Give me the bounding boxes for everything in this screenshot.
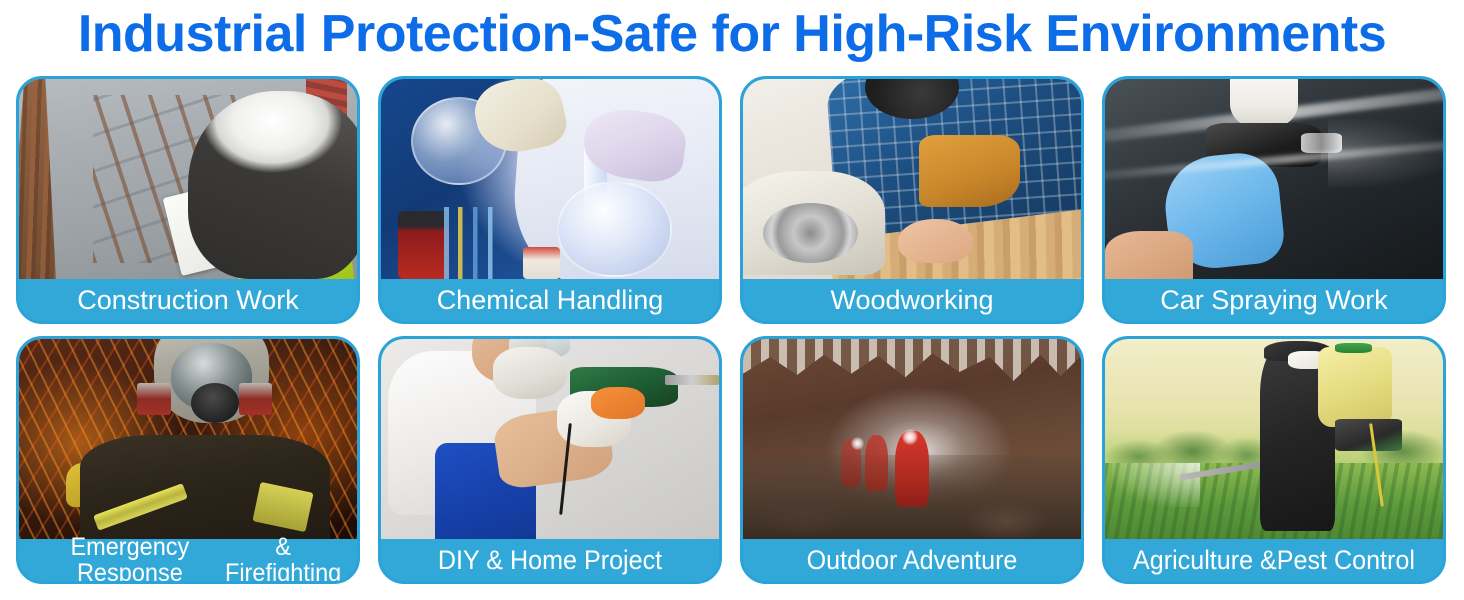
card-photo-construction-work [19, 79, 357, 279]
pesticide-spray-decor [1112, 463, 1200, 507]
card-caption-chemical-handling: Chemical Handling [381, 279, 719, 321]
page-title: Industrial Protection-Safe for High-Risk… [0, 2, 1464, 68]
diy-home-project-image [381, 339, 719, 539]
use-case-card-agriculture-pest-control[interactable]: Agriculture &Pest Control [1102, 336, 1446, 584]
spray-nozzle-decor [1301, 133, 1342, 153]
crane-decor [306, 79, 347, 191]
card-photo-outdoor-adventure [743, 339, 1081, 539]
hand-decor [898, 219, 972, 263]
use-case-card-chemical-handling[interactable]: Chemical Handling [378, 76, 722, 324]
caver-2-decor [865, 435, 889, 491]
respirator-filter-decor [191, 383, 238, 423]
card-photo-woodworking [743, 79, 1081, 279]
tank-cap-decor [1335, 343, 1372, 353]
caption-line-2: & Firefighting [225, 534, 341, 584]
crop-spraying-image [1105, 339, 1443, 539]
card-caption-construction-work: Construction Work [19, 279, 357, 321]
card-caption-woodworking: Woodworking [743, 279, 1081, 321]
card-photo-agriculture-pest-control [1105, 339, 1443, 539]
half-mask-respirator-decor [493, 347, 567, 399]
boiling-flask-decor [557, 181, 673, 277]
paint-cup-decor [1230, 79, 1298, 127]
card-caption-emergency-response: Emergency Response& Firefighting [29, 539, 347, 581]
filter-cartridge-right-decor [239, 383, 273, 415]
card-photo-emergency-response [19, 339, 357, 539]
card-caption-outdoor-adventure: Outdoor Adventure [755, 539, 1069, 581]
woodworking-image [743, 79, 1081, 279]
card-caption-agriculture-pest-control: Agriculture &Pest Control [1117, 539, 1431, 581]
firefighting-image [19, 339, 357, 539]
use-case-card-construction-work[interactable]: Construction Work [16, 76, 360, 324]
filter-cartridge-left-decor [137, 383, 171, 415]
card-caption-car-spraying-work: Car Spraying Work [1105, 279, 1443, 321]
drill-bit-decor [665, 375, 719, 385]
headlamp-2-decor [851, 437, 864, 450]
backpack-sprayer-tank-decor [1318, 347, 1392, 427]
use-case-grid: Construction Work Chemical Handling [16, 76, 1448, 596]
card-photo-chemical-handling [381, 79, 719, 279]
use-case-card-car-spraying-work[interactable]: Car Spraying Work [1102, 76, 1446, 324]
promo-banner: Industrial Protection-Safe for High-Risk… [0, 0, 1464, 600]
use-case-card-woodworking[interactable]: Woodworking [740, 76, 1084, 324]
sample-jar-decor [523, 247, 560, 279]
card-photo-car-spraying-work [1105, 79, 1443, 279]
saw-blade-decor [763, 203, 858, 263]
headlamp-1-decor [902, 429, 918, 445]
hi-vis-vest-decor [231, 193, 354, 279]
ear-defender-decor [865, 79, 960, 119]
car-spraying-image [1105, 79, 1443, 279]
wrist-decor [1105, 231, 1193, 279]
caption-line-1: Emergency Response [35, 534, 225, 584]
card-caption-diy-home-project: DIY & Home Project [393, 539, 707, 581]
tool-belt-decor [919, 135, 1020, 207]
cave-exploration-image [743, 339, 1081, 539]
construction-site-image [19, 79, 357, 279]
chemical-lab-image [381, 79, 719, 279]
paint-mist-decor [1328, 119, 1443, 187]
use-case-card-emergency-response[interactable]: Emergency Response& Firefighting [16, 336, 360, 584]
use-case-card-diy-home-project[interactable]: DIY & Home Project [378, 336, 722, 584]
card-photo-diy-home-project [381, 339, 719, 539]
work-glove-orange-decor [591, 387, 645, 419]
use-case-card-outdoor-adventure[interactable]: Outdoor Adventure [740, 336, 1084, 584]
